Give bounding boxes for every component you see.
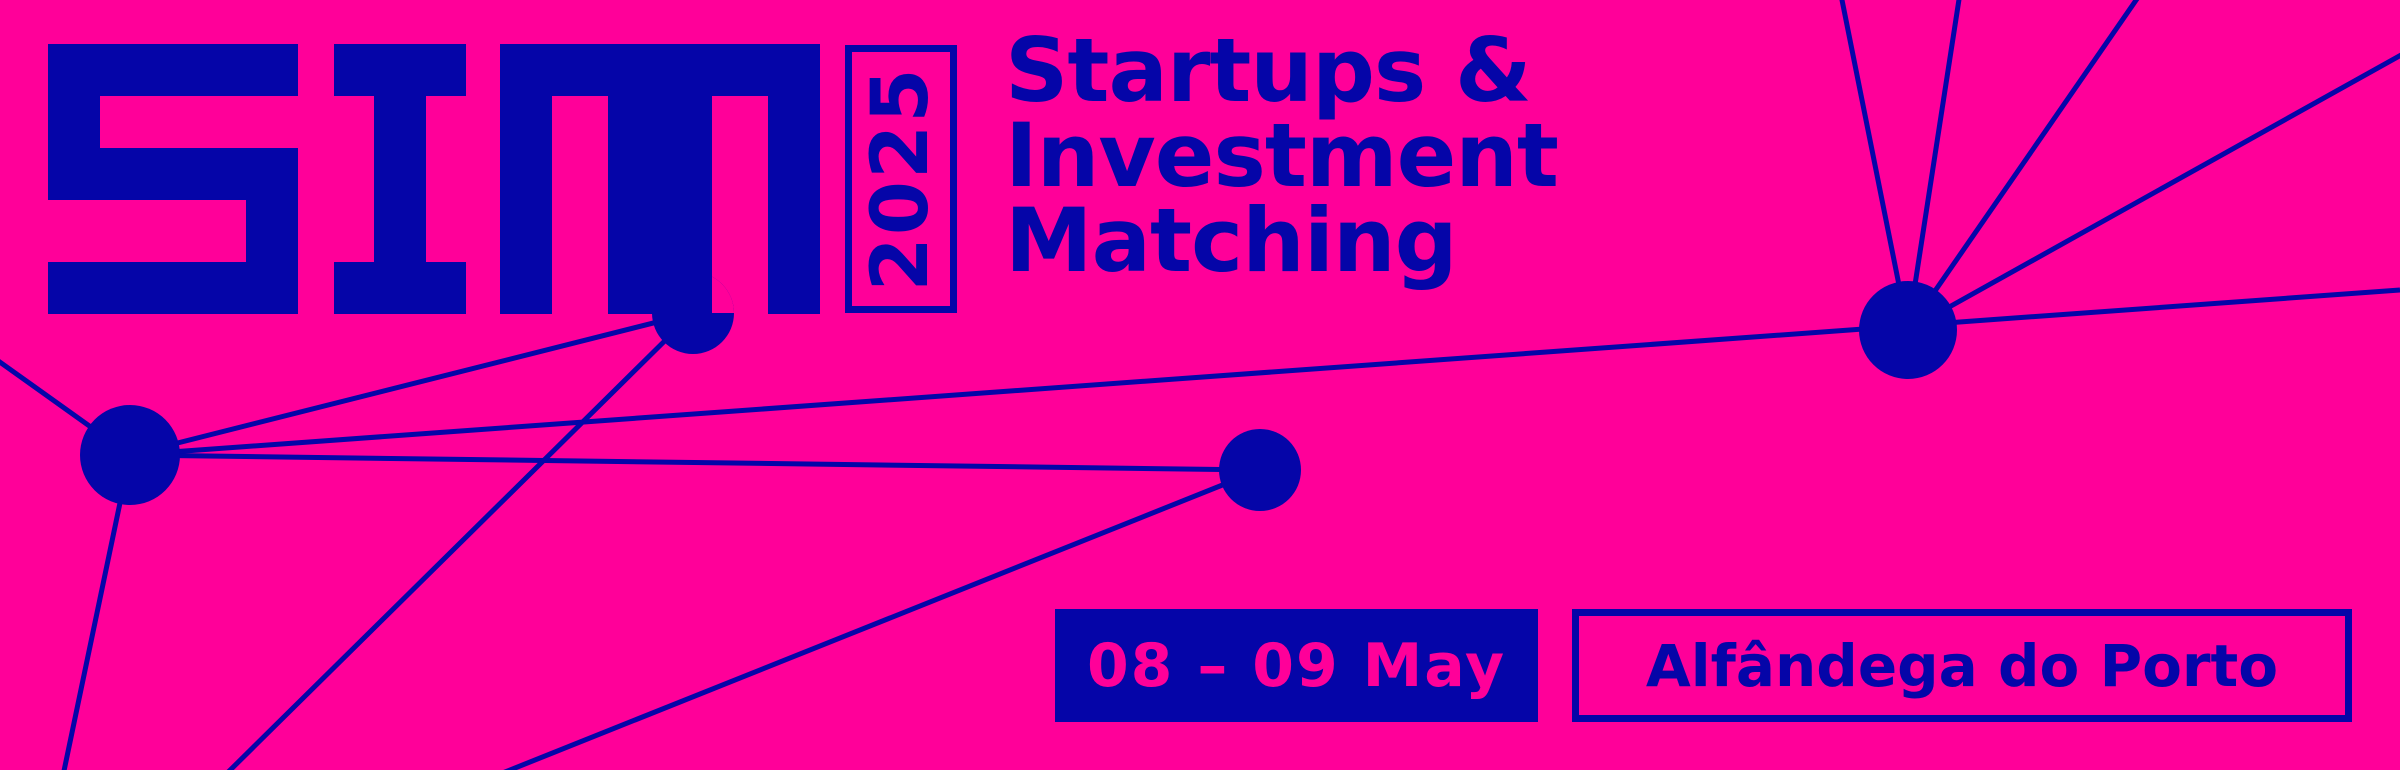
headline-line-2: Investment bbox=[1005, 113, 1558, 198]
logo-m2-left bbox=[660, 44, 712, 314]
event-venue-label: Alfândega do Porto bbox=[1646, 632, 2278, 700]
edge-right-fan-4 bbox=[1908, 50, 2400, 330]
edge-right-fan-3 bbox=[1908, 0, 2150, 330]
event-venue-badge: Alfândega do Porto bbox=[1572, 609, 2352, 722]
node-center bbox=[1219, 429, 1301, 511]
event-headline: Startups & Investment Matching bbox=[1005, 28, 1558, 283]
node-left bbox=[80, 405, 180, 505]
simm-logo-icon bbox=[48, 44, 828, 314]
headline-line-3: Matching bbox=[1005, 198, 1558, 283]
node-right bbox=[1859, 281, 1957, 379]
logo-s-bottom bbox=[48, 262, 298, 314]
simm-wordmark-logo[interactable] bbox=[48, 44, 828, 314]
edge-right-fan-1 bbox=[1838, 0, 1908, 330]
event-date-badge: 08 – 09 May bbox=[1055, 609, 1538, 722]
event-date-label: 08 – 09 May bbox=[1087, 631, 1506, 701]
edge-left-to-center bbox=[130, 455, 1260, 470]
logo-m1-right bbox=[608, 44, 660, 314]
simm-2025-event-banner: 2025 Startups & Investment Matching 08 –… bbox=[0, 0, 2400, 770]
logo-m1-left bbox=[500, 44, 552, 314]
headline-line-1: Startups & bbox=[1005, 28, 1558, 113]
year-badge: 2025 bbox=[845, 45, 957, 313]
year-badge-label: 2025 bbox=[856, 66, 946, 291]
logo-i-bottom bbox=[334, 262, 466, 314]
edge-right-fan-2 bbox=[1908, 0, 1962, 330]
edge-logo-down bbox=[210, 313, 693, 770]
logo-m2-right bbox=[768, 44, 820, 314]
